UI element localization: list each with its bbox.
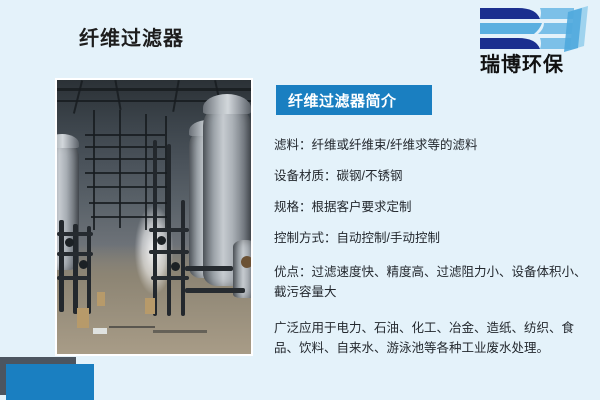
product-info-slide: 纤维过滤器 瑞博环保: [0, 0, 600, 400]
wave-bars-logo-icon: [478, 6, 590, 52]
spec-line-control-mode: 控制方式：自动控制/手动控制: [274, 231, 596, 246]
spec-line-material: 设备材质：碳钢/不锈钢: [274, 169, 596, 184]
photo-scene: [57, 80, 251, 354]
section-badge: 纤维过滤器简介: [276, 85, 432, 115]
spec-line-specification: 规格：根据客户要求定制: [274, 200, 596, 215]
spec-line-applications: 广泛应用于电力、石油、化工、冶金、造纸、纺织、食品、饮料、自来水、游泳池等各种工…: [274, 318, 596, 358]
spec-line-media: 滤料：纤维或纤维束/纤维求等的滤料: [274, 138, 596, 153]
page-title: 纤维过滤器: [79, 22, 184, 51]
spec-line-advantages: 优点：过滤速度快、精度高、过滤阻力小、设备体积小、截污容量大: [274, 262, 596, 302]
spec-list: 滤料：纤维或纤维束/纤维求等的滤料 设备材质：碳钢/不锈钢 规格：根据客户要求定…: [274, 138, 596, 358]
section-badge-label: 纤维过滤器简介: [288, 90, 397, 111]
brand-logo: 瑞博环保: [444, 4, 594, 82]
decor-blue-square: [6, 364, 94, 400]
product-photo: [55, 78, 253, 356]
brand-name: 瑞博环保: [450, 48, 594, 77]
